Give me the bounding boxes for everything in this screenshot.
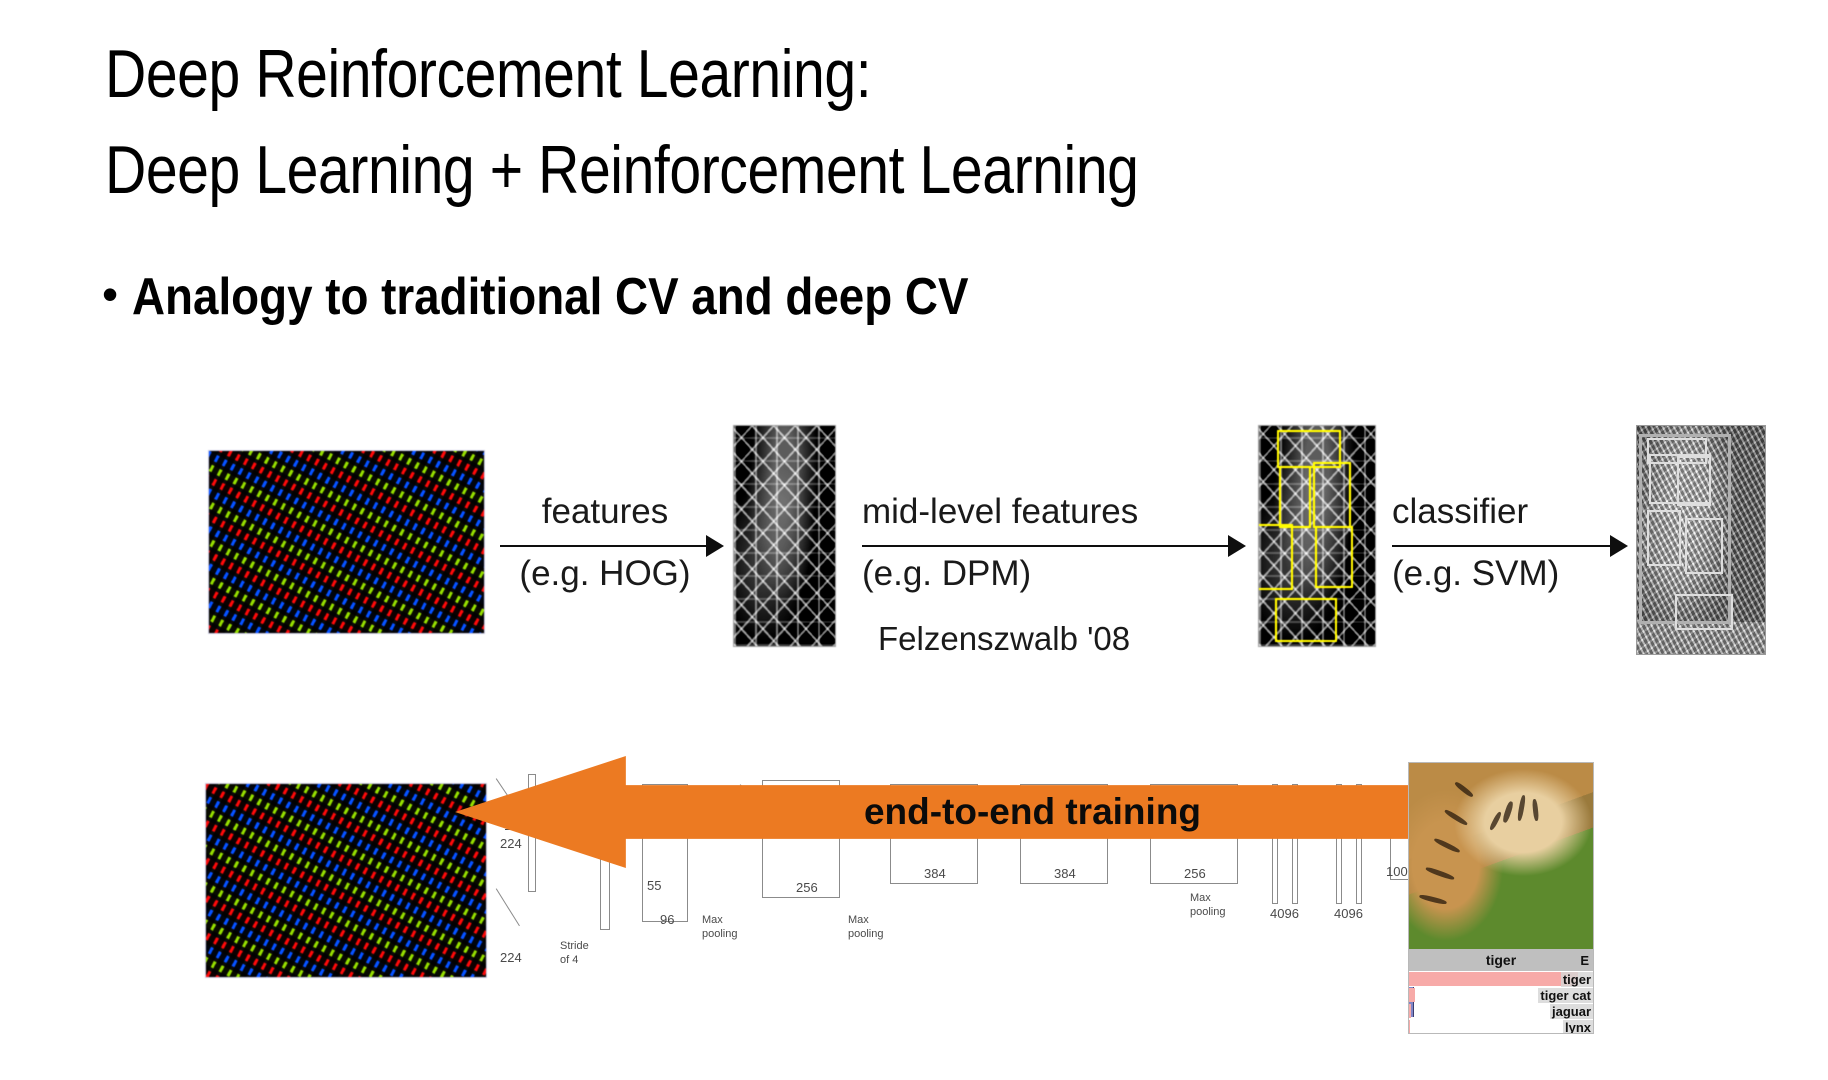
cnn-label-pool2-1: Max [848,914,869,926]
prediction-label: tiger [1561,972,1593,987]
cnn-label-pool3-1: Max [1190,892,1211,904]
classification-result-panel: tiger E tiger tiger cat jaguar lynx [1408,762,1594,1034]
cnn-label-fc2: 4096 [1334,906,1363,921]
prediction-row: tiger cat [1409,987,1593,1003]
pipeline-arrow-1-line [500,545,710,547]
cnn-label-pool2-2: pooling [848,928,883,940]
tiger-stripe [1489,811,1503,831]
tiger-stripe [1444,808,1469,826]
title-line-1: Deep Reinforcement Learning: [105,26,1499,122]
cnn-label-conv3-depth: 384 [924,866,946,881]
tiger-stripe [1454,781,1474,798]
cnn-label-pool3-2: pooling [1190,906,1225,918]
prediction-bar [1409,972,1578,986]
cnn-label-pool1-1: Max [702,914,723,926]
classification-header: tiger E [1409,949,1593,971]
cnn-label-fc1: 4096 [1270,906,1299,921]
prediction-row: lynx [1409,1019,1593,1034]
pipeline-arrow-1-top-label: features [500,490,710,534]
cnn-label-conv1-size: 55 [647,878,661,893]
felzenszwalb-citation: Felzenszwalb '08 [878,620,1130,658]
cnn-label-stride-1: Stride [560,940,589,952]
tiger-stripe [1425,866,1455,881]
prediction-bar [1409,988,1415,1002]
end-to-end-training-label: end-to-end training [455,791,1460,833]
detection-part-box-legs [1675,594,1733,630]
prediction-label: jaguar [1550,1004,1593,1019]
pipeline-arrow-3-head [1610,535,1628,557]
classification-bars: tiger tiger cat jaguar lynx [1409,971,1593,1033]
title-line-2: Deep Learning + Reinforcement Learning [105,122,1499,218]
pipeline-arrow-1-bottom-label: (e.g. HOG) [500,552,710,596]
end-to-end-training-arrow: end-to-end training [455,756,1460,868]
prediction-row: jaguar [1409,1003,1593,1019]
tiger-photo [1409,763,1593,949]
detection-part-box-hip [1685,518,1723,574]
dpm-part-box-leg-left [1258,524,1293,590]
pipeline-arrow-3-bottom-label: (e.g. SVM) [1392,552,1612,596]
pipeline-arrow-3-line [1392,545,1614,547]
pipeline-arrow-2-bottom-label: (e.g. DPM) [862,552,1212,596]
pipeline-arrow-2-line [862,545,1232,547]
classification-header-extra: E [1580,953,1589,968]
bullet-item: • Analogy to traditional CV and deep CV [102,268,1083,326]
tiger-stripe [1517,795,1526,821]
bullet-text: Analogy to traditional CV and deep CV [132,268,968,326]
prediction-bar [1409,1020,1410,1034]
prediction-label: tiger cat [1538,988,1593,1003]
cnn-label-conv1-depth: 96 [660,912,674,927]
cnn-input-edge-b [495,888,519,926]
pipeline-arrow-3-top-label: classifier [1392,490,1612,534]
detection-result [1636,425,1766,655]
dpm-part-box-torso-left [1279,466,1311,528]
cnn-label-pool1-2: pooling [702,928,737,940]
hog-feature-visualization [733,425,836,647]
bullet-marker-icon: • [102,271,118,317]
rgb-subpixel-photo-bottom [205,783,487,978]
cnn-label-conv4-depth: 384 [1054,866,1076,881]
tiger-stripe [1532,799,1539,821]
tiger-stripe [1433,837,1460,854]
cnn-label-input-w: 224 [500,950,522,965]
cnn-label-stride-2: of 4 [560,954,578,966]
detection-part-box-torso [1647,510,1681,566]
prediction-bar [1409,1004,1411,1018]
prediction-row: tiger [1409,971,1593,987]
pipeline-arrow-2-top-label: mid-level features [862,490,1212,534]
tiger-stripe [1502,801,1515,824]
dpm-part-model [1258,425,1376,647]
dpm-part-box-leg-right [1315,526,1353,588]
detection-part-box-arm [1677,456,1711,506]
classification-header-label: tiger [1486,952,1516,968]
cnn-label-conv2-depth: 256 [796,880,818,895]
dpm-part-box-torso-right [1313,462,1351,528]
prediction-label: lynx [1563,1020,1593,1035]
rgb-subpixel-photo [208,450,485,634]
pipeline-arrow-2-head [1228,535,1246,557]
dpm-part-box-feet [1275,598,1337,642]
cnn-label-conv5-depth: 256 [1184,866,1206,881]
tiger-stripe [1419,894,1447,906]
page-title: Deep Reinforcement Learning: Deep Learni… [105,26,1765,218]
